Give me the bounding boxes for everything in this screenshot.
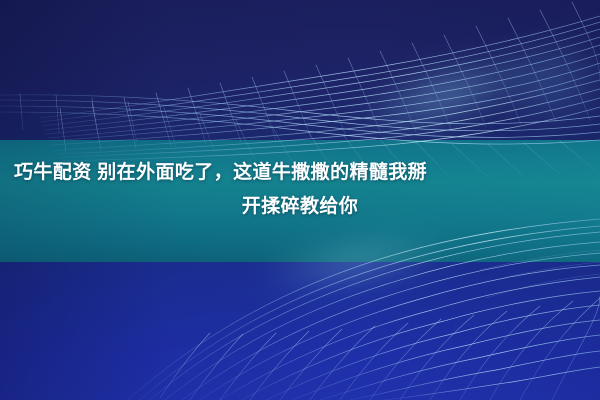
banner-headline: 巧牛配资 别在外面吃了，这道牛撒撒的精髓我掰 开揉碎教给你	[0, 156, 600, 224]
headline-line-1: 巧牛配资 别在外面吃了，这道牛撒撒的精髓我掰	[12, 156, 588, 190]
headline-line-2: 开揉碎教给你	[12, 190, 588, 224]
article-header-banner: 巧牛配资 别在外面吃了，这道牛撒撒的精髓我掰 开揉碎教给你	[0, 0, 600, 400]
